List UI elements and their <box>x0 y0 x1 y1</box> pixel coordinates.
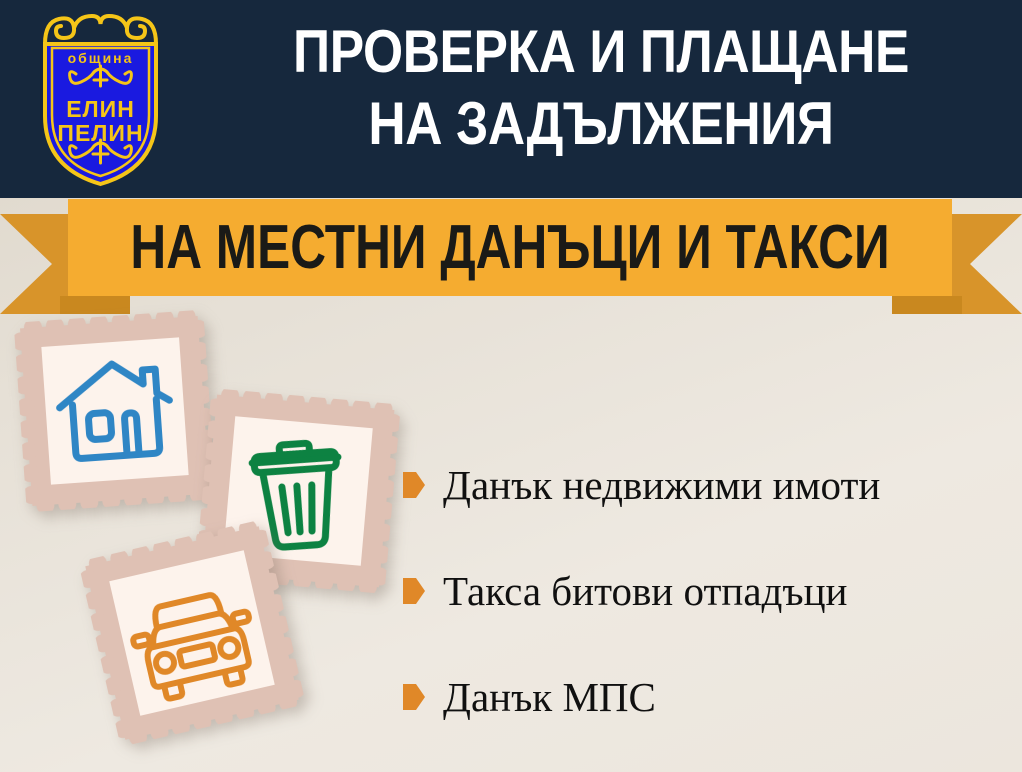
list-item-label: Данък МПС <box>443 675 656 719</box>
ribbon-fold-left <box>60 296 130 314</box>
header-banner: община ЕЛИН ПЕЛИН ПРОВЕРКА И ПЛАЩАНЕ НА … <box>0 0 1022 198</box>
poster-root: община ЕЛИН ПЕЛИН ПРОВЕРКА И ПЛАЩАНЕ НА … <box>0 0 1022 772</box>
page-title-line2: НА ЗАДЪЛЖЕНИЯ <box>253 88 950 160</box>
arrow-bullet-icon <box>403 578 425 604</box>
list-item-label: Такса битови отпадъци <box>443 569 847 613</box>
list-item[interactable]: Такса битови отпадъци <box>403 538 1013 644</box>
tax-type-list: Данък недвижими имоти Такса битови отпад… <box>403 432 1013 750</box>
arrow-bullet-icon <box>403 472 425 498</box>
ribbon-center-panel: НА МЕСТНИ ДАНЪЦИ И ТАКСИ <box>68 199 952 296</box>
ribbon-fold-right <box>892 296 962 314</box>
municipality-emblem: община ЕЛИН ПЕЛИН <box>18 8 183 188</box>
page-title: ПРОВЕРКА И ПЛАЩАНЕ НА ЗАДЪЛЖЕНИЯ <box>253 16 950 160</box>
ribbon-label: НА МЕСТНИ ДАНЪЦИ И ТАКСИ <box>156 199 863 296</box>
list-item-label: Данък недвижими имоти <box>443 463 880 507</box>
subtitle-ribbon: НА МЕСТНИ ДАНЪЦИ И ТАКСИ <box>0 196 1022 316</box>
arrow-bullet-icon <box>403 684 425 710</box>
list-item[interactable]: Данък недвижими имоти <box>403 432 1013 538</box>
page-title-line1: ПРОВЕРКА И ПЛАЩАНЕ <box>293 18 909 85</box>
stamp-real-estate <box>14 310 217 513</box>
list-item[interactable]: Данък МПС <box>403 644 1013 750</box>
